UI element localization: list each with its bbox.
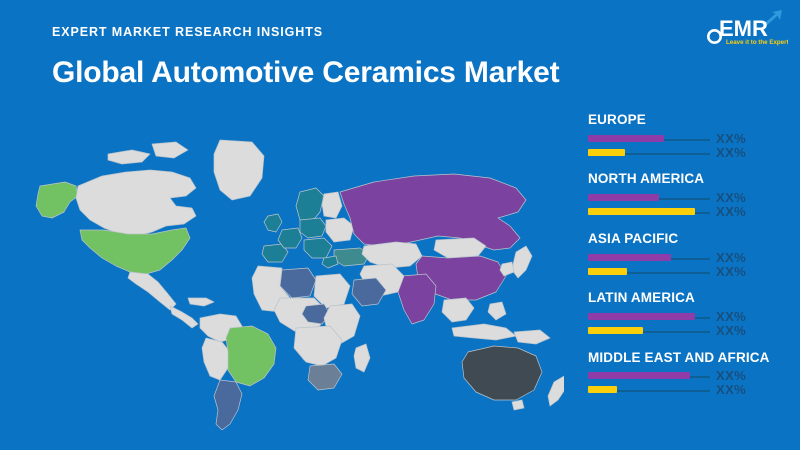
map-region-germany-poland <box>300 218 326 238</box>
map-region-canada <box>76 170 196 236</box>
map-region-canada-arctic-isles <box>108 150 150 164</box>
map-region-finland-baltics <box>322 192 342 218</box>
legend-bar-fill-yellow <box>588 268 627 275</box>
map-region-central-america <box>170 306 198 328</box>
map-region-egypt-sudan <box>314 274 350 308</box>
legend-bar-fill-yellow <box>588 208 695 215</box>
legend-bar-fill-yellow <box>588 327 643 334</box>
emr-logo[interactable]: EMR Leave it to the Experts! <box>702 6 788 50</box>
map-region-canada-arctic-isles-2 <box>152 142 188 158</box>
map-region-united-states <box>80 228 190 274</box>
logo-tagline: Leave it to the Experts! <box>726 39 788 46</box>
map-region-greenland <box>214 140 264 200</box>
map-region-indonesia <box>452 324 516 340</box>
infographic-canvas: EXPERT MARKET RESEARCH INSIGHTS Global A… <box>0 0 800 450</box>
map-region-south-africa <box>308 364 342 390</box>
map-region-greece <box>322 256 338 268</box>
legend-bar-fill-purple <box>588 254 671 261</box>
legend-bar-value: XX% <box>716 309 746 324</box>
legend-bar-fill-yellow <box>588 149 625 156</box>
map-region-caribbean <box>188 298 214 306</box>
map-region-brazil <box>226 326 276 386</box>
map-region-tasmania <box>512 400 524 410</box>
map-region-central-africa <box>294 326 342 366</box>
legend-bar-value: XX% <box>716 250 746 265</box>
map-region-mexico <box>128 272 176 310</box>
map-region-philippines <box>488 302 506 320</box>
map-region-mongolia <box>434 238 486 258</box>
legend-bar-row: XX% <box>588 206 794 220</box>
map-region-new-zealand <box>548 376 564 406</box>
legend-group: EUROPEXX%XX% <box>588 112 794 161</box>
page-title: Global Automotive Ceramics Market <box>52 56 559 90</box>
legend-group: ASIA PACIFICXX%XX% <box>588 231 794 280</box>
map-region-alaska <box>36 182 78 218</box>
legend-region-title: NORTH AMERICA <box>588 171 794 188</box>
legend-bar-value: XX% <box>716 368 746 383</box>
map-region-new-guinea <box>514 330 550 344</box>
legend-bar-row: XX% <box>588 325 794 339</box>
legend-bar-fill-purple <box>588 313 695 320</box>
map-region-australia <box>462 346 542 400</box>
legend-bar-fill-purple <box>588 194 659 201</box>
legend-region-title: ASIA PACIFIC <box>588 231 794 248</box>
legend-bar-row: XX% <box>588 147 794 161</box>
map-region-france <box>278 228 302 248</box>
map-region-argentina-chile <box>214 380 242 430</box>
legend-region-title: EUROPE <box>588 112 794 129</box>
legend-bar-value: XX% <box>716 204 746 219</box>
legend-bar-value: XX% <box>716 145 746 160</box>
map-region-italy-balkans <box>304 238 332 258</box>
legend-bar-row: XX% <box>588 384 794 398</box>
legend-bar-fill-purple <box>588 372 690 379</box>
logo-wordmark: EMR <box>719 16 768 41</box>
legend-bar-value: XX% <box>716 323 746 338</box>
world-map <box>24 100 564 430</box>
legend-bar-value: XX% <box>716 382 746 397</box>
legend-bar-fill-yellow <box>588 386 617 393</box>
legend-region-title: LATIN AMERICA <box>588 290 794 307</box>
legend-bar-row: XX% <box>588 311 794 325</box>
legend-group: NORTH AMERICAXX%XX% <box>588 171 794 220</box>
legend-bar-row: XX% <box>588 192 794 206</box>
map-region-russia <box>340 174 526 250</box>
map-region-peru-bolivia <box>202 338 230 380</box>
legend-bar-value: XX% <box>716 131 746 146</box>
map-region-eastern-europe <box>326 218 354 242</box>
legend-group: MIDDLE EAST AND AFRICAXX%XX% <box>588 350 794 399</box>
legend-bar-row: XX% <box>588 266 794 280</box>
legend-region-title: MIDDLE EAST AND AFRICA <box>588 350 794 367</box>
map-region-southeast-asia <box>442 298 474 322</box>
map-region-uk-ireland <box>264 214 282 232</box>
legend-group: LATIN AMERICAXX%XX% <box>588 290 794 339</box>
legend-bar-fill-purple <box>588 135 664 142</box>
map-region-madagascar <box>354 344 370 372</box>
legend-bar-value: XX% <box>716 190 746 205</box>
map-region-india <box>398 274 436 324</box>
eyebrow-label: EXPERT MARKET RESEARCH INSIGHTS <box>52 25 323 39</box>
legend-bar-row: XX% <box>588 133 794 147</box>
region-legend: EUROPEXX%XX%NORTH AMERICAXX%XX%ASIA PACI… <box>588 112 794 409</box>
legend-bar-value: XX% <box>716 264 746 279</box>
legend-bar-row: XX% <box>588 252 794 266</box>
map-region-japan <box>512 246 532 278</box>
legend-bar-row: XX% <box>588 370 794 384</box>
